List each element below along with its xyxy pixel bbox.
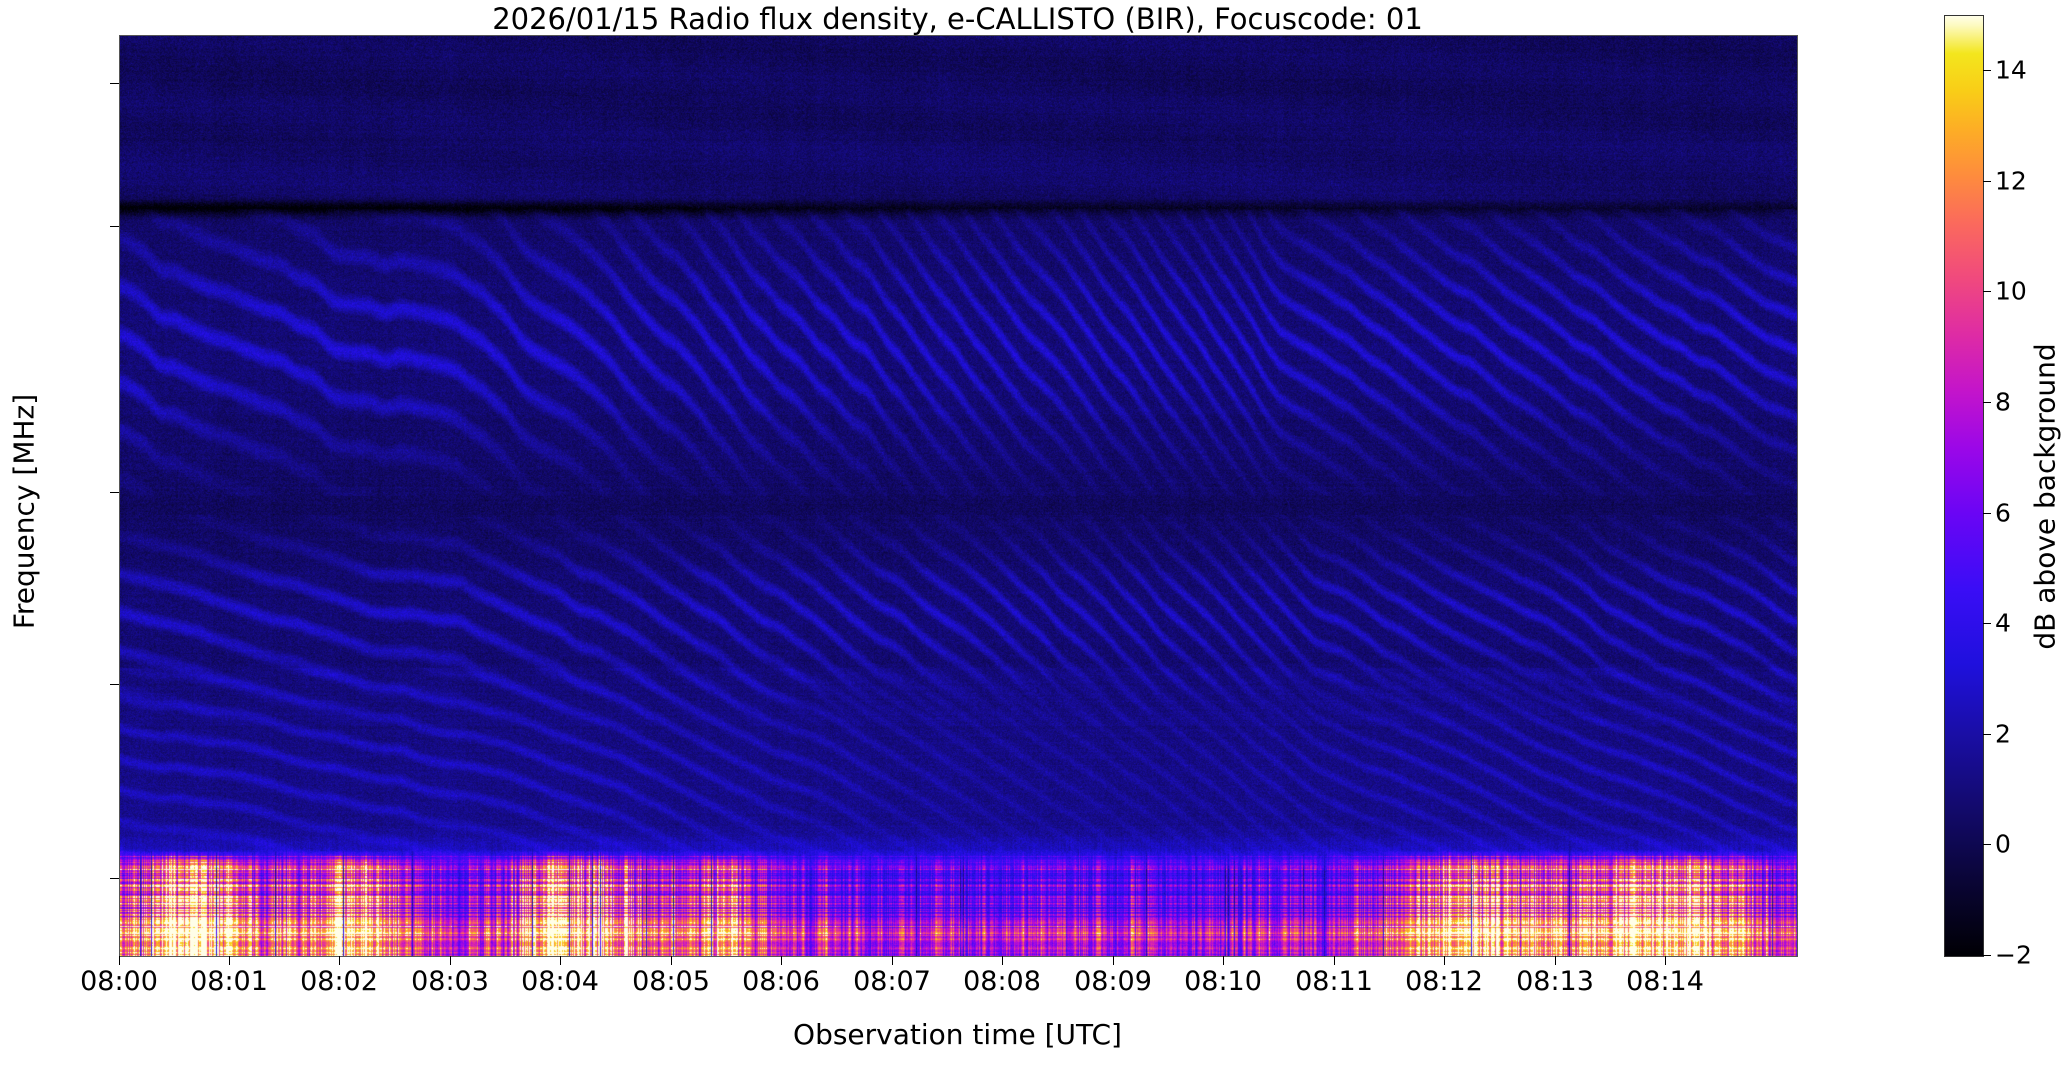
x-tick-mark: [781, 956, 782, 965]
y-tick-mark: [110, 492, 119, 493]
x-tick-label: 08:03: [411, 966, 489, 997]
colorbar-tick-label: 6: [1995, 498, 2011, 527]
x-tick-label: 08:01: [190, 966, 268, 997]
colorbar-tick-label: 0: [1995, 830, 2011, 859]
y-tick-mark: [110, 226, 119, 227]
colorbar-tick-label: 4: [1995, 609, 2011, 638]
colorbar-tick-mark: [1983, 70, 1991, 71]
x-tick-label: 08:12: [1405, 966, 1483, 997]
y-tick-mark: [110, 878, 119, 879]
x-tick-mark: [1665, 956, 1666, 965]
x-tick-label: 08:08: [963, 966, 1041, 997]
x-tick-mark: [450, 956, 451, 965]
x-axis-label: Observation time [UTC]: [119, 1018, 1796, 1051]
colorbar-tick-mark: [1983, 844, 1991, 845]
colorbar-tick-label: 10: [1995, 277, 2027, 306]
spectrogram-axes[interactable]: [119, 35, 1798, 957]
x-tick-mark: [560, 956, 561, 965]
x-tick-mark: [892, 956, 893, 965]
colorbar-gradient: [1945, 16, 1983, 956]
colorbar-tick-mark: [1983, 402, 1991, 403]
x-tick-mark: [1444, 956, 1445, 965]
x-tick-label: 08:07: [853, 966, 931, 997]
x-tick-mark: [1223, 956, 1224, 965]
x-tick-mark: [671, 956, 672, 965]
colorbar-tick-label: 8: [1995, 388, 2011, 417]
x-tick-label: 08:11: [1295, 966, 1373, 997]
x-tick-label: 08:00: [80, 966, 158, 997]
x-tick-label: 08:09: [1074, 966, 1152, 997]
x-tick-label: 08:06: [742, 966, 820, 997]
x-tick-label: 08:02: [300, 966, 378, 997]
x-tick-mark: [1334, 956, 1335, 965]
x-tick-mark: [339, 956, 340, 965]
spectrogram-image: [120, 36, 1797, 956]
colorbar-label: dB above background: [2029, 297, 2062, 697]
colorbar-tick-mark: [1983, 181, 1991, 182]
y-tick-mark: [110, 83, 119, 84]
x-tick-label: 08:05: [632, 966, 710, 997]
colorbar-tick-label: −2: [1995, 941, 2032, 970]
x-tick-mark: [1002, 956, 1003, 965]
colorbar-tick-mark: [1983, 291, 1991, 292]
figure-canvas: 2026/01/15 Radio flux density, e-CALLIST…: [0, 0, 2066, 1067]
x-tick-label: 08:14: [1626, 966, 1704, 997]
x-tick-label: 08:10: [1184, 966, 1262, 997]
x-tick-mark: [229, 956, 230, 965]
colorbar-tick-mark: [1983, 955, 1991, 956]
page-title: 2026/01/15 Radio flux density, e-CALLIST…: [0, 2, 1915, 36]
colorbar-tick-mark: [1983, 623, 1991, 624]
x-tick-mark: [1113, 956, 1114, 965]
y-axis-label: Frequency [MHz]: [8, 292, 41, 732]
colorbar-tick-mark: [1983, 513, 1991, 514]
x-tick-label: 08:13: [1516, 966, 1594, 997]
colorbar-tick-label: 2: [1995, 719, 2011, 748]
x-tick-label: 08:04: [521, 966, 599, 997]
colorbar-tick-label: 12: [1995, 166, 2027, 195]
colorbar[interactable]: [1944, 15, 1984, 957]
y-tick-mark: [110, 684, 119, 685]
x-tick-mark: [1555, 956, 1556, 965]
x-tick-mark: [119, 956, 120, 965]
colorbar-tick-mark: [1983, 734, 1991, 735]
colorbar-tick-label: 14: [1995, 56, 2027, 85]
